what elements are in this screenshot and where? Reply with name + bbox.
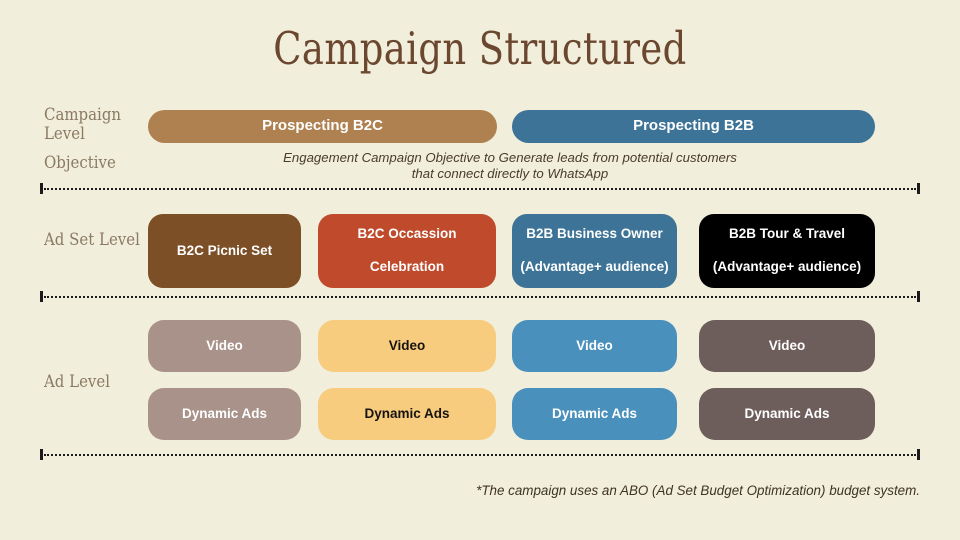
objective-line-2: that connect directly to WhatsApp	[210, 166, 810, 182]
ad-pill-dynamic-ads-col1[interactable]: Dynamic Ads	[148, 388, 301, 440]
ad-set-pill-label: B2B Business Owner (Advantage+ audience)	[520, 226, 668, 275]
ad-pill-label: Dynamic Ads	[364, 406, 449, 422]
ad-set-pill-label: B2B Tour & Travel (Advantage+ audience)	[713, 226, 861, 275]
divider-cap-right	[917, 449, 920, 460]
ad-set-pill-b2b-tour-and-travel[interactable]: B2B Tour & Travel (Advantage+ audience)	[699, 214, 875, 288]
ad-set-pill-line-1: B2B Tour & Travel	[713, 226, 861, 242]
objective-line-1: Engagement Campaign Objective to Generat…	[210, 150, 810, 166]
ad-set-pill-label: B2C Picnic Set	[177, 243, 272, 259]
ad-pill-dynamic-ads-col2[interactable]: Dynamic Ads	[318, 388, 496, 440]
slide-canvas: Campaign Structured Campaign Level Prosp…	[0, 0, 960, 540]
page-title: Campaign Structured	[86, 18, 873, 80]
divider-cap-left	[40, 183, 43, 194]
divider-cap-right	[917, 291, 920, 302]
divider-cap-right	[917, 183, 920, 194]
campaign-pill-prospecting-b2c[interactable]: Prospecting B2C	[148, 110, 497, 143]
ad-set-pill-b2c-picnic-set[interactable]: B2C Picnic Set	[148, 214, 301, 288]
ad-pill-dynamic-ads-col4[interactable]: Dynamic Ads	[699, 388, 875, 440]
row-label-ad-set-level: Ad Set Level	[44, 231, 148, 250]
ad-pill-video-col4[interactable]: Video	[699, 320, 875, 372]
campaign-pill-label: Prospecting B2B	[633, 117, 754, 135]
ad-pill-video-col3[interactable]: Video	[512, 320, 677, 372]
ad-pill-label: Video	[206, 338, 243, 354]
ad-pill-label: Dynamic Ads	[552, 406, 637, 422]
ad-pill-label: Dynamic Ads	[744, 406, 829, 422]
ad-pill-video-col2[interactable]: Video	[318, 320, 496, 372]
ad-pill-label: Dynamic Ads	[182, 406, 267, 422]
ad-set-pill-b2b-business-owner[interactable]: B2B Business Owner (Advantage+ audience)	[512, 214, 677, 288]
divider-3	[40, 449, 920, 460]
divider-dots	[44, 454, 916, 456]
divider-1	[40, 183, 920, 194]
ad-pill-label: Video	[769, 338, 806, 354]
divider-dots	[44, 296, 916, 298]
divider-cap-left	[40, 449, 43, 460]
ad-set-pill-line-2: Celebration	[357, 259, 456, 275]
ad-set-pill-line-2: (Advantage+ audience)	[520, 259, 668, 275]
footnote: *The campaign uses an ABO (Ad Set Budget…	[40, 483, 920, 498]
ad-pill-label: Video	[576, 338, 613, 354]
divider-2	[40, 291, 920, 302]
ad-pill-dynamic-ads-col3[interactable]: Dynamic Ads	[512, 388, 677, 440]
ad-set-pill-label: B2C Occassion Celebration	[357, 226, 456, 275]
ad-set-pill-line-1: B2C Occassion	[357, 226, 456, 242]
ad-set-pill-b2c-occassion-celebration[interactable]: B2C Occassion Celebration	[318, 214, 496, 288]
campaign-pill-prospecting-b2b[interactable]: Prospecting B2B	[512, 110, 875, 143]
ad-set-pill-line-1: B2C Picnic Set	[177, 243, 272, 259]
row-label-ad-level: Ad Level	[44, 373, 148, 392]
ad-pill-video-col1[interactable]: Video	[148, 320, 301, 372]
divider-cap-left	[40, 291, 43, 302]
divider-dots	[44, 188, 916, 190]
campaign-pill-label: Prospecting B2C	[262, 117, 383, 135]
ad-set-pill-line-2: (Advantage+ audience)	[713, 259, 861, 275]
objective-text: Engagement Campaign Objective to Generat…	[210, 150, 810, 182]
row-label-campaign-level: Campaign Level	[44, 106, 148, 144]
ad-set-pill-line-1: B2B Business Owner	[520, 226, 668, 242]
row-label-objective: Objective	[44, 154, 148, 173]
ad-pill-label: Video	[389, 338, 426, 354]
